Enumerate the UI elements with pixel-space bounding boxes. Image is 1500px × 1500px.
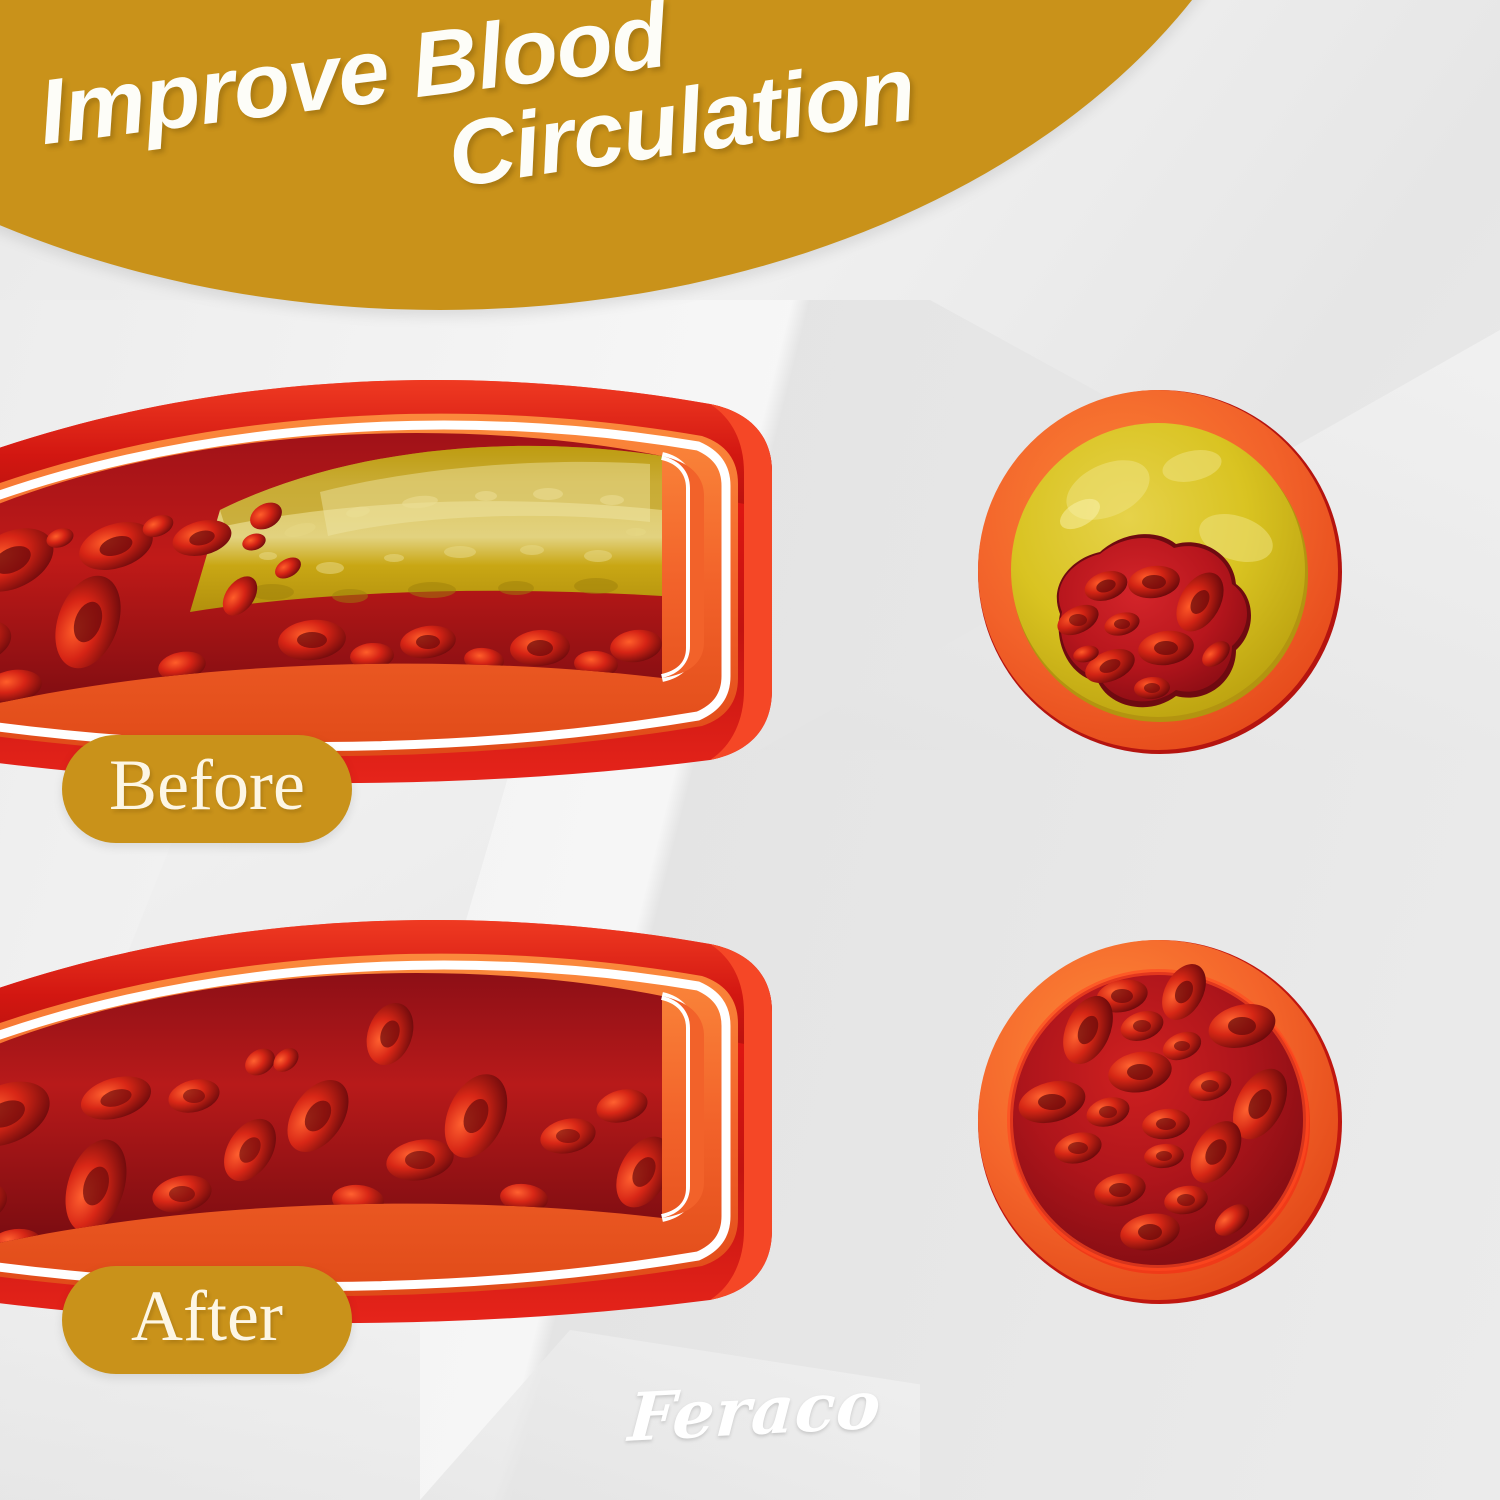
label-badge-before[interactable]: Before	[62, 735, 352, 843]
infographic-canvas: Improve Blood Circulation	[0, 0, 1500, 1500]
label-badge-after[interactable]: After	[62, 1266, 352, 1374]
